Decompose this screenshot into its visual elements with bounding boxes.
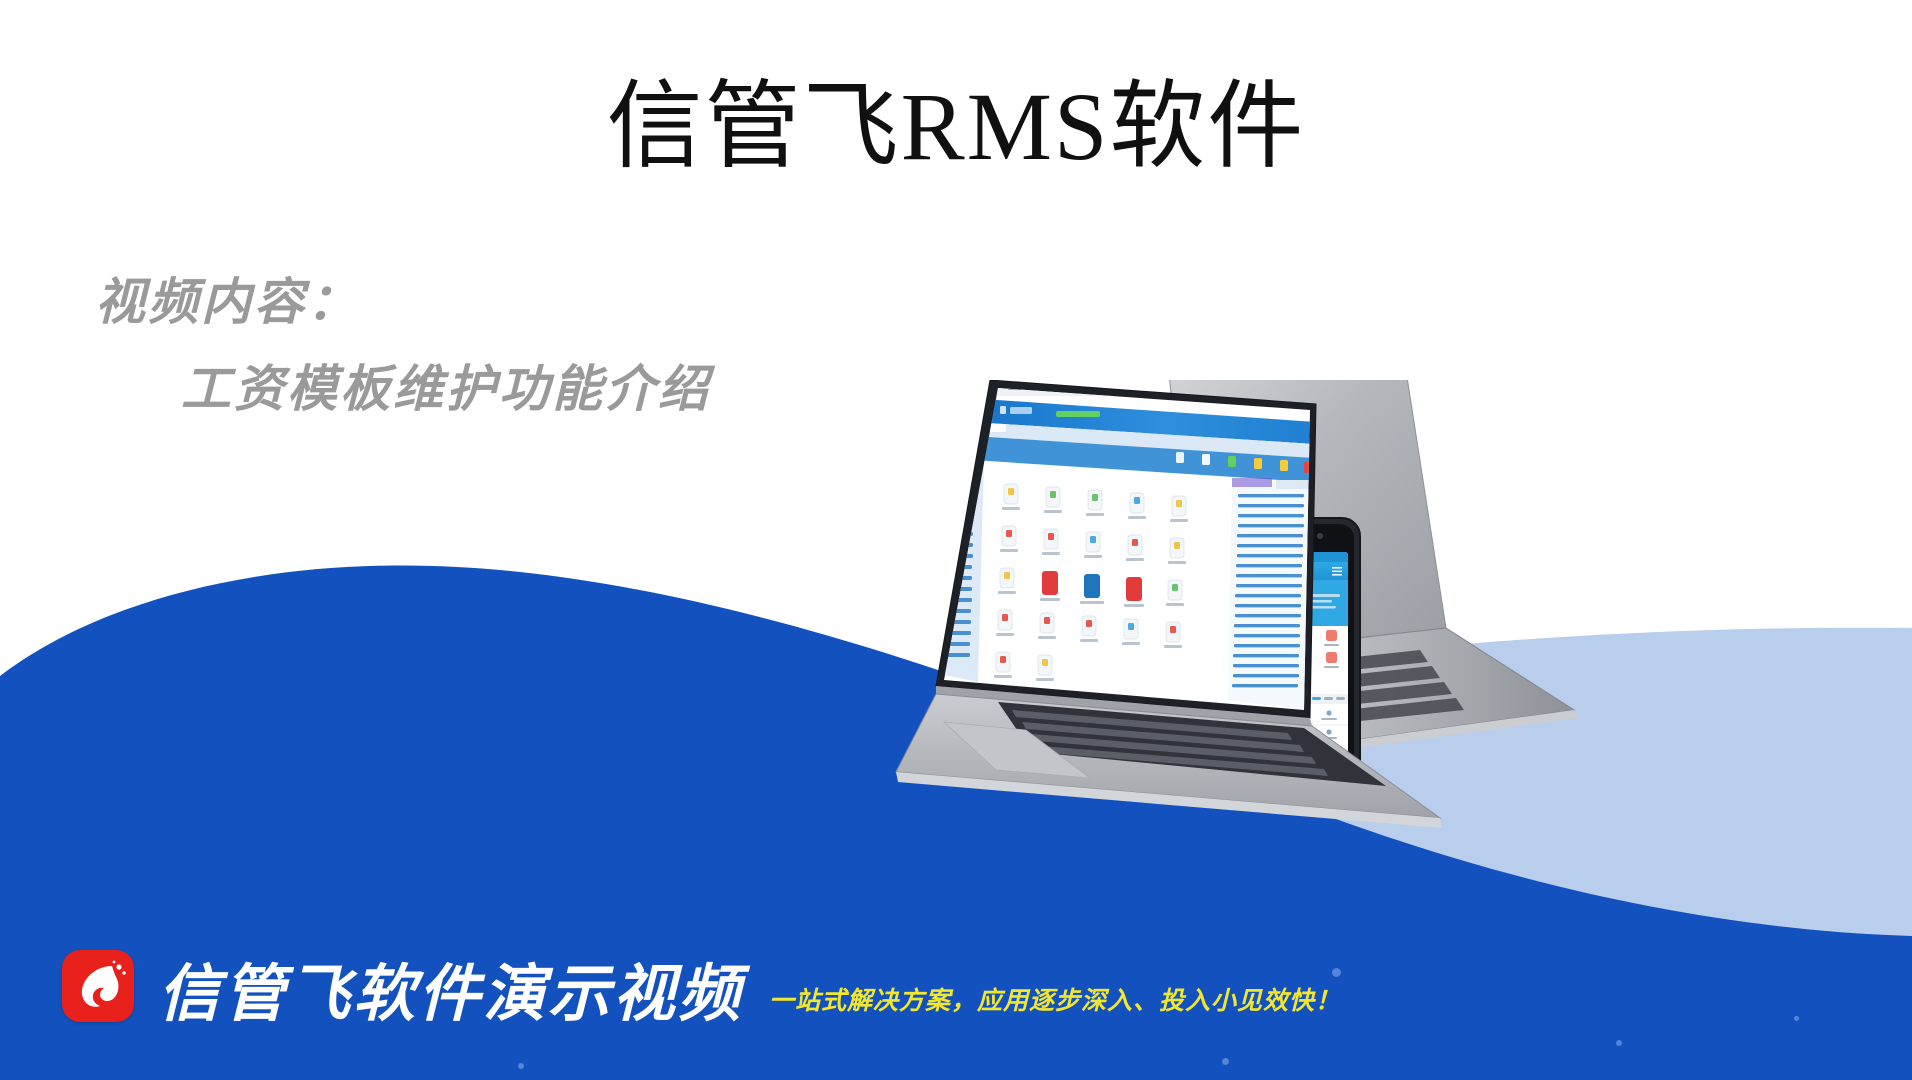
brand-name: 信管飞软件演示视频 <box>158 964 743 1026</box>
laptop-screen <box>936 384 1320 710</box>
page-title: 信管飞RMS软件 <box>0 72 1912 182</box>
presentation-slide: 信管飞RMS软件 视频内容： 工资模板维护功能介绍 <box>0 0 1912 1080</box>
brand-tagline: 一站式解决方案，应用逐步深入、投入小见效快！ <box>769 989 1341 1014</box>
device-mockup-group <box>880 380 1912 900</box>
footer-brand-bar: 信管飞软件演示视频 一站式解决方案，应用逐步深入、投入小见效快！ <box>62 950 1341 1022</box>
device-mockup-illustration <box>880 380 1912 900</box>
video-content-block: 视频内容： 工资模板维护功能介绍 <box>95 276 915 415</box>
phone-front-camera-icon <box>1317 533 1323 539</box>
video-content-label: 视频内容： <box>95 276 915 329</box>
brand-logo <box>62 950 134 1022</box>
video-content-item: 工资模板维护功能介绍 <box>181 363 915 416</box>
brand-bird-logo-icon <box>62 950 134 1022</box>
